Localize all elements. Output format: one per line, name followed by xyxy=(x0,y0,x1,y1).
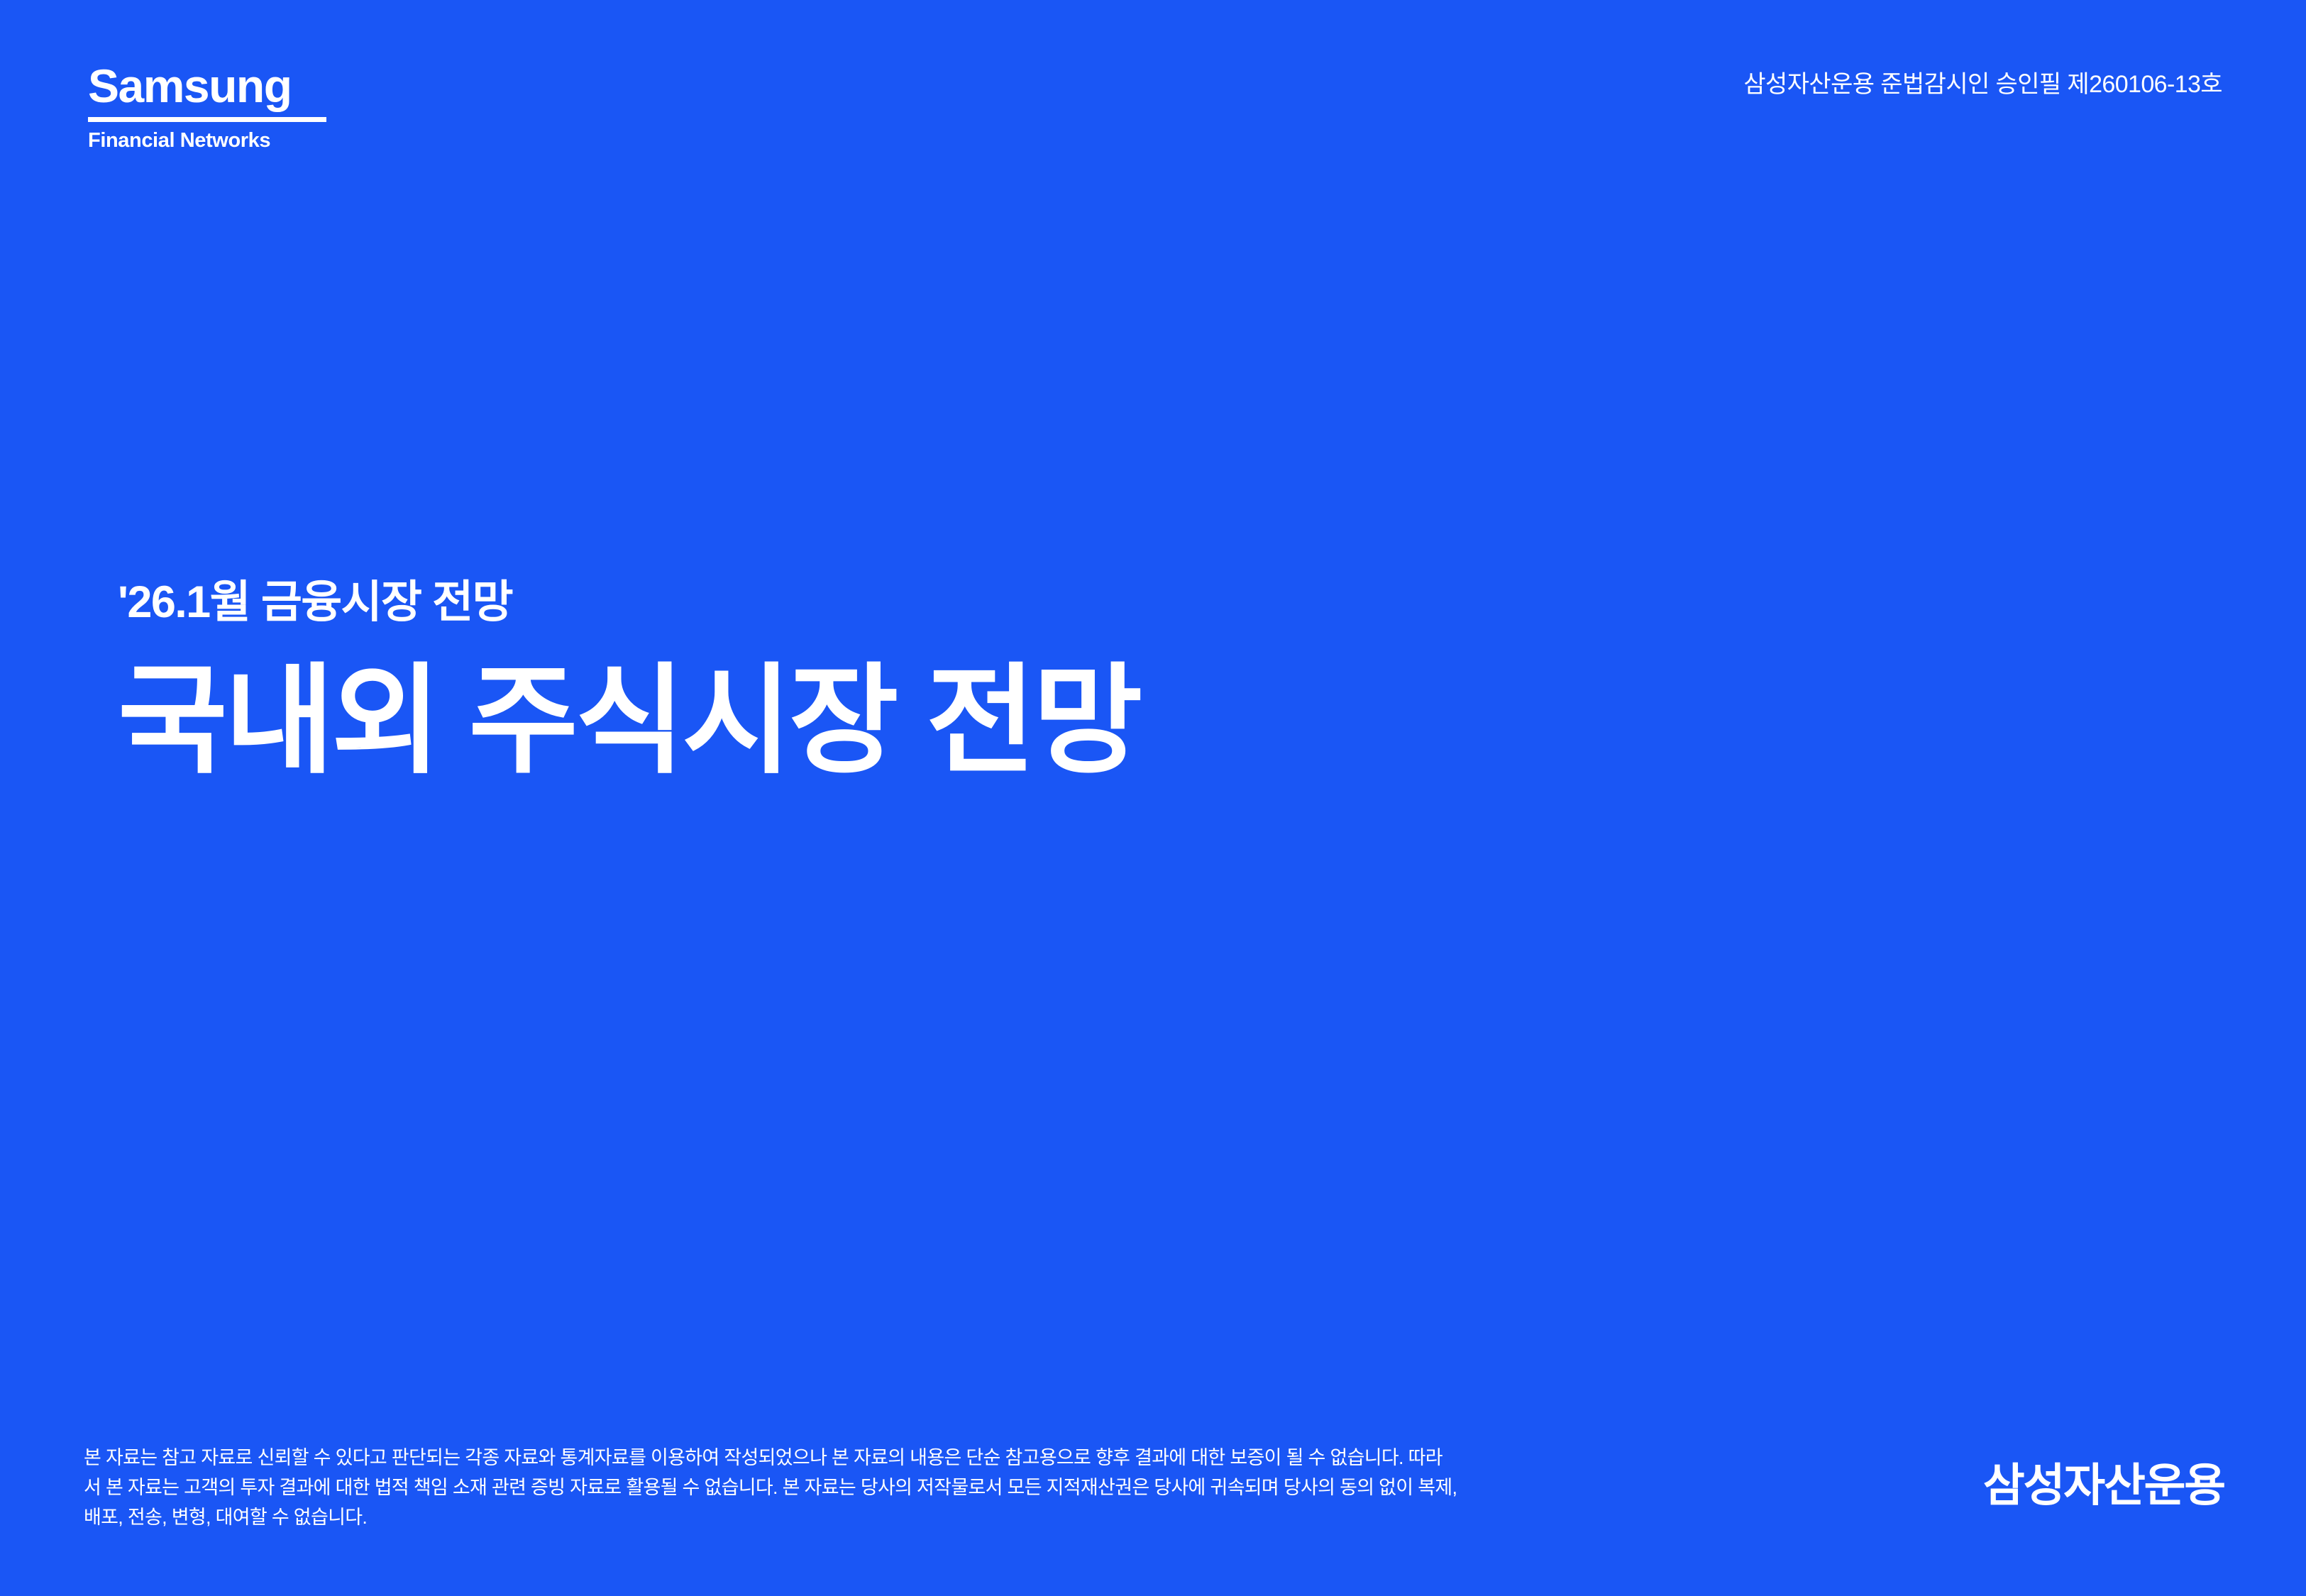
disclaimer-line: 서 본 자료는 고객의 투자 결과에 대한 법적 책임 소재 관련 증빙 자료로… xyxy=(84,1473,1787,1502)
title-eyebrow: '26.1월 금융시장 전망 xyxy=(118,576,1821,630)
page-title: 국내외 주식시장 전망 xyxy=(118,657,1821,785)
samsung-logo-subtitle: Financial Networks xyxy=(88,131,358,151)
cover-title-block: '26.1월 금융시장 전망 국내외 주식시장 전망 xyxy=(118,576,1821,785)
disclaimer-line: 본 자료는 참고 자료로 신뢰할 수 있다고 판단되는 각종 자료와 통계자료를… xyxy=(84,1443,1787,1473)
samsung-financial-networks-logo: Samsung Financial Networks xyxy=(88,62,358,151)
disclaimer-line: 배포, 전송, 변형, 대여할 수 없습니다. xyxy=(84,1502,1787,1532)
disclaimer-text: 본 자료는 참고 자료로 신뢰할 수 있다고 판단되는 각종 자료와 통계자료를… xyxy=(84,1443,1787,1532)
logo-divider-rule xyxy=(88,117,326,122)
presentation-cover-slide: Samsung Financial Networks 삼성자산운용 준법감시인 … xyxy=(0,0,2306,1596)
samsung-wordmark: Samsung xyxy=(88,62,358,109)
compliance-approval-note: 삼성자산운용 준법감시인 승인필 제260106-13호 xyxy=(1743,70,2222,100)
samsung-asset-management-logo: 삼성자산운용 xyxy=(1983,1463,2224,1508)
slide-footer: 본 자료는 참고 자료로 신뢰할 수 있다고 판단되는 각종 자료와 통계자료를… xyxy=(0,1443,2306,1542)
